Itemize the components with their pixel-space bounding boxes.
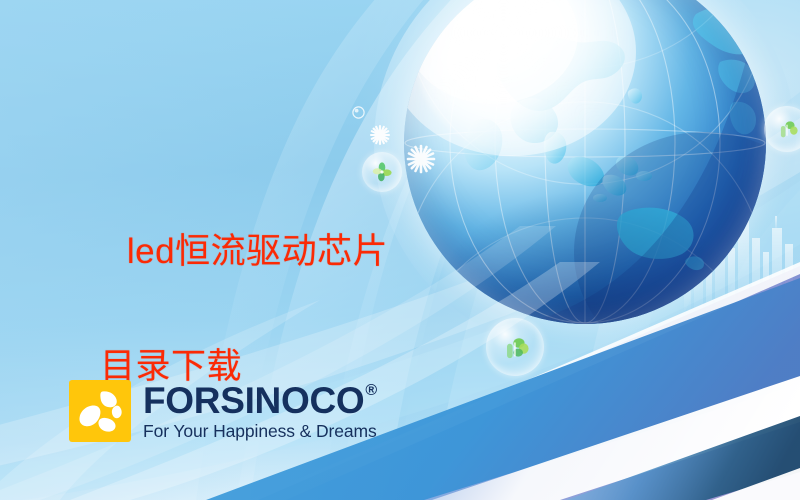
snowflake-icon <box>369 124 391 146</box>
bubble-small-icon <box>352 106 365 119</box>
logo-pinwheel-icon <box>69 380 131 442</box>
company-logo: FORSINOCO ® For Your Happiness & Dreams <box>69 380 377 442</box>
logo-wordmark: FORSINOCO ® For Your Happiness & Dreams <box>143 382 377 441</box>
promo-banner: led恒流驱动芯片 目录下载 FORSINOCO ® For Your Happ… <box>0 0 800 500</box>
brand-tagline: For Your Happiness & Dreams <box>143 423 377 441</box>
headline-line-1: led恒流驱动芯片 <box>127 232 388 271</box>
brand-name-text: FORSINOCO <box>143 382 364 419</box>
page-title: led恒流驱动芯片 目录下载 <box>86 166 516 500</box>
brand-name: FORSINOCO ® <box>143 382 377 419</box>
registered-trademark-icon: ® <box>365 383 377 399</box>
